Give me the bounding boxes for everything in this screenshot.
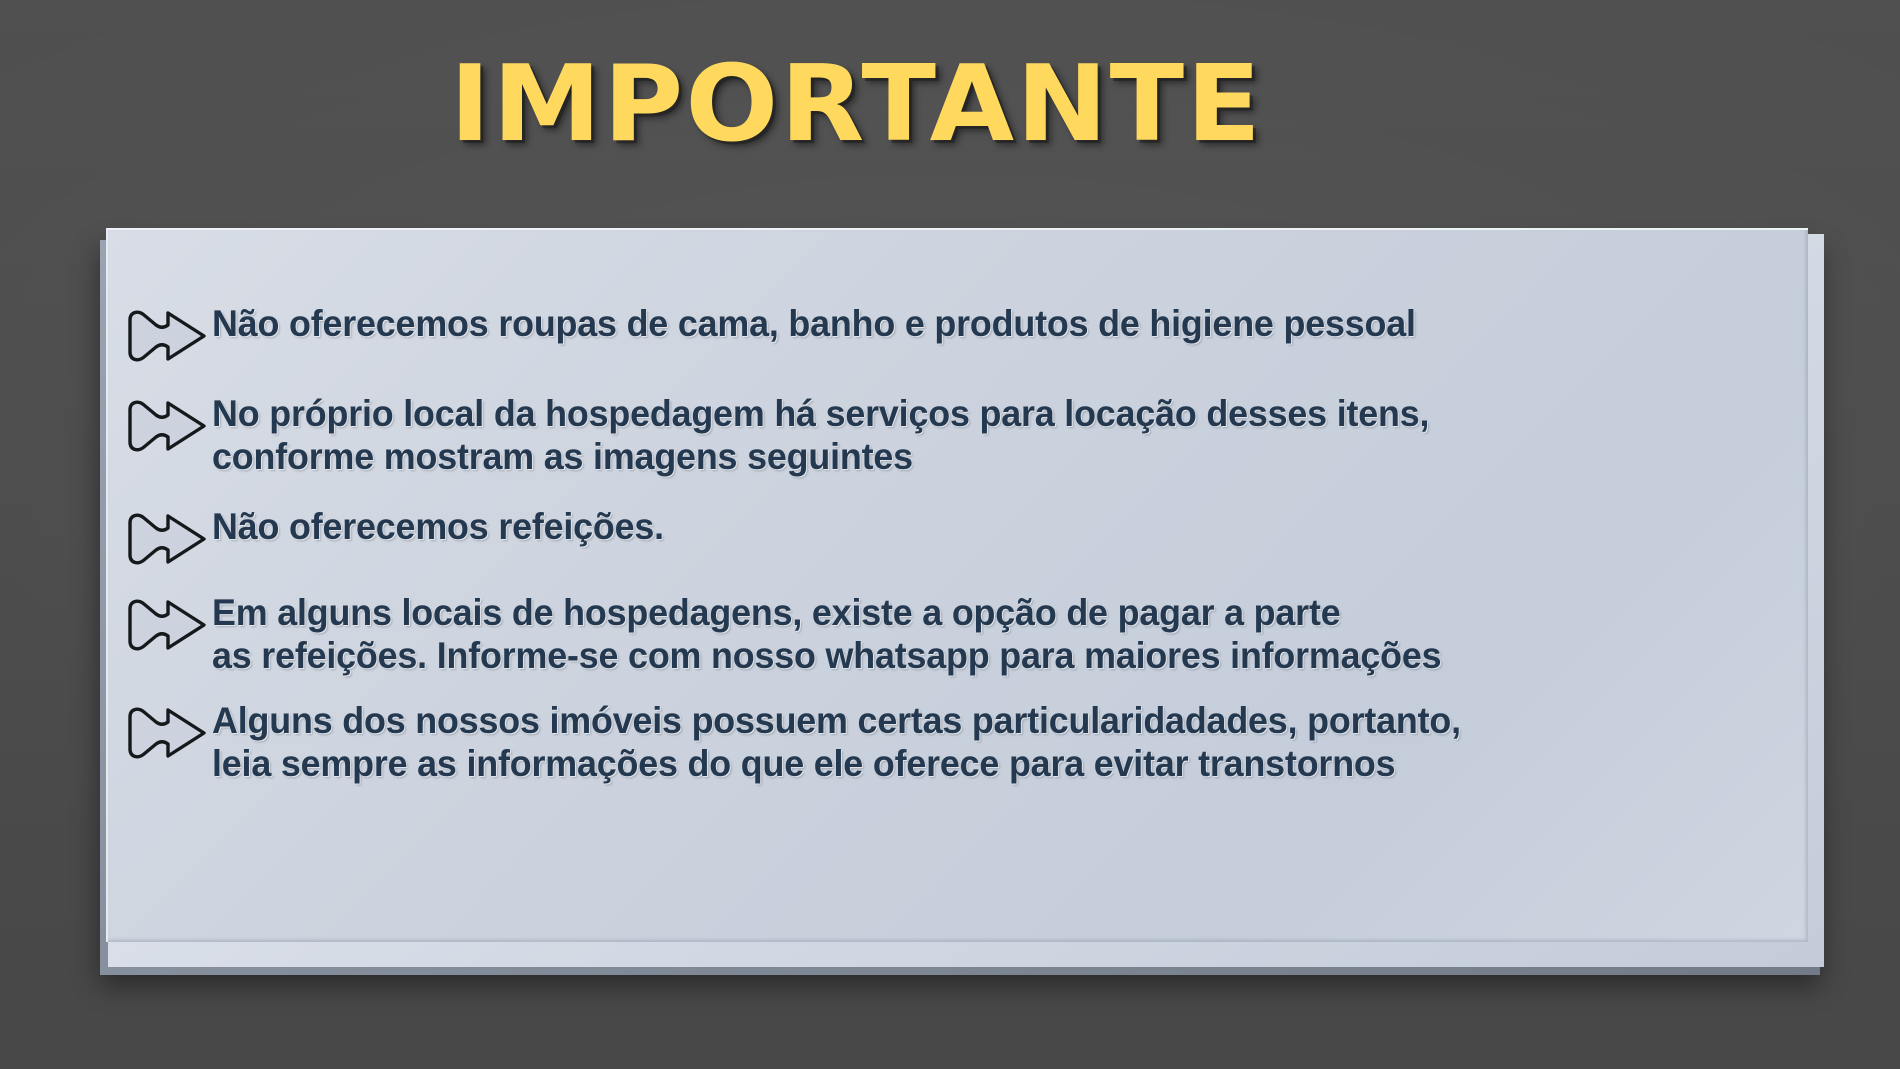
block-arrow-right-icon [126,595,210,655]
block-arrow-right-icon [126,703,210,763]
list-item-label: No próprio local da hospedagem há serviç… [212,392,1429,479]
page-title: IMPORTANTE [450,52,1263,157]
list-item: No próprio local da hospedagem há serviç… [126,392,1786,479]
content-panel: Não oferecemos roupas de cama, banho e p… [100,228,1820,963]
panel-surface: Não oferecemos roupas de cama, banho e p… [106,228,1808,942]
list-item: Alguns dos nossos imóveis possuem certas… [126,699,1786,786]
block-arrow-right-icon [126,509,210,569]
block-arrow-right-icon [126,396,210,456]
list-item: Não oferecemos refeições. [126,505,1786,569]
list-item-label: Em alguns locais de hospedagens, existe … [212,591,1441,678]
list-item-label: Alguns dos nossos imóveis possuem certas… [212,699,1461,786]
bullet-list: Não oferecemos roupas de cama, banho e p… [126,302,1786,808]
page-title-container: IMPORTANTE [0,52,1900,157]
block-arrow-right-icon [126,306,210,366]
list-item: Não oferecemos roupas de cama, banho e p… [126,302,1786,366]
list-item: Em alguns locais de hospedagens, existe … [126,591,1786,678]
list-item-label: Não oferecemos roupas de cama, banho e p… [212,302,1416,345]
list-item-label: Não oferecemos refeições. [212,505,664,548]
